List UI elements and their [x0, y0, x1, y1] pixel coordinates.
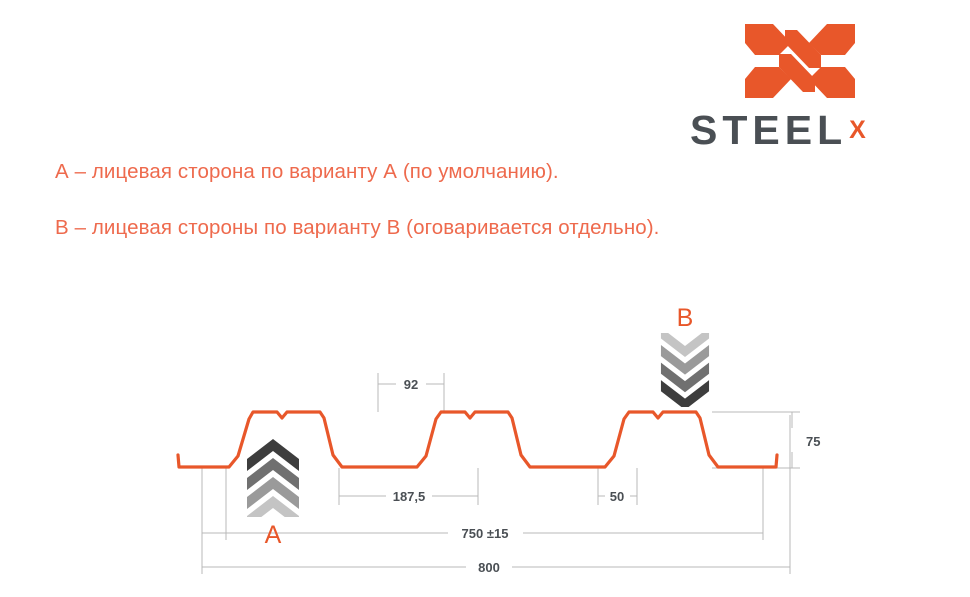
- chevron-down-stack-icon: [657, 333, 713, 407]
- marker-variant-b: В: [657, 305, 713, 412]
- marker-a-label: А: [245, 522, 301, 550]
- marker-b-label: В: [657, 305, 713, 333]
- dimension-label-187-5: 187,5: [393, 489, 426, 504]
- dimension-label-50: 50: [610, 489, 624, 504]
- chevron-up-stack-icon: [245, 437, 301, 517]
- dimension-label-800: 800: [478, 560, 500, 575]
- marker-variant-a: А: [245, 437, 301, 550]
- profile-technical-drawing: 92 187,5 50 750 ±15 800 75: [0, 0, 970, 597]
- dimension-label-75: 75: [806, 434, 820, 449]
- dimension-label-92: 92: [404, 377, 418, 392]
- page-root: STEEL X А – лицевая сторона по варианту …: [0, 0, 970, 597]
- dimension-label-750: 750 ±15: [462, 526, 509, 541]
- dimension-labels: 92 187,5 50 750 ±15 800 75: [393, 377, 821, 575]
